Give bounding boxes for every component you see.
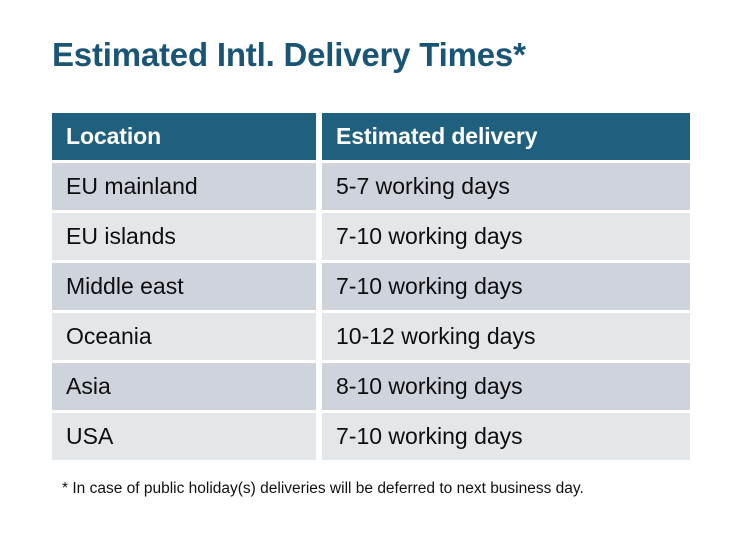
cell-estimated-delivery: 5-7 working days — [322, 163, 690, 210]
column-header-estimated-delivery: Estimated delivery — [322, 113, 690, 160]
column-header-location: Location — [52, 113, 316, 160]
cell-estimated-delivery: 7-10 working days — [322, 263, 690, 310]
cell-location: Asia — [52, 363, 316, 410]
footnote-text: * In case of public holiday(s) deliverie… — [62, 480, 584, 498]
cell-location: EU islands — [52, 213, 316, 260]
table-row: EU mainland 5-7 working days — [52, 163, 690, 210]
delivery-times-table: Location Estimated delivery EU mainland … — [52, 113, 690, 460]
page-title: Estimated Intl. Delivery Times* — [52, 36, 526, 74]
table-header-row: Location Estimated delivery — [52, 113, 690, 160]
cell-estimated-delivery: 8-10 working days — [322, 363, 690, 410]
cell-location: USA — [52, 413, 316, 460]
cell-estimated-delivery: 7-10 working days — [322, 413, 690, 460]
table-row: USA 7-10 working days — [52, 413, 690, 460]
table-row: Oceania 10-12 working days — [52, 313, 690, 360]
cell-location: Middle east — [52, 263, 316, 310]
cell-location: EU mainland — [52, 163, 316, 210]
table-row: Asia 8-10 working days — [52, 363, 690, 410]
cell-estimated-delivery: 10-12 working days — [322, 313, 690, 360]
cell-estimated-delivery: 7-10 working days — [322, 213, 690, 260]
table-row: Middle east 7-10 working days — [52, 263, 690, 310]
cell-location: Oceania — [52, 313, 316, 360]
table-row: EU islands 7-10 working days — [52, 213, 690, 260]
delivery-times-card: Estimated Intl. Delivery Times* Location… — [0, 0, 745, 536]
